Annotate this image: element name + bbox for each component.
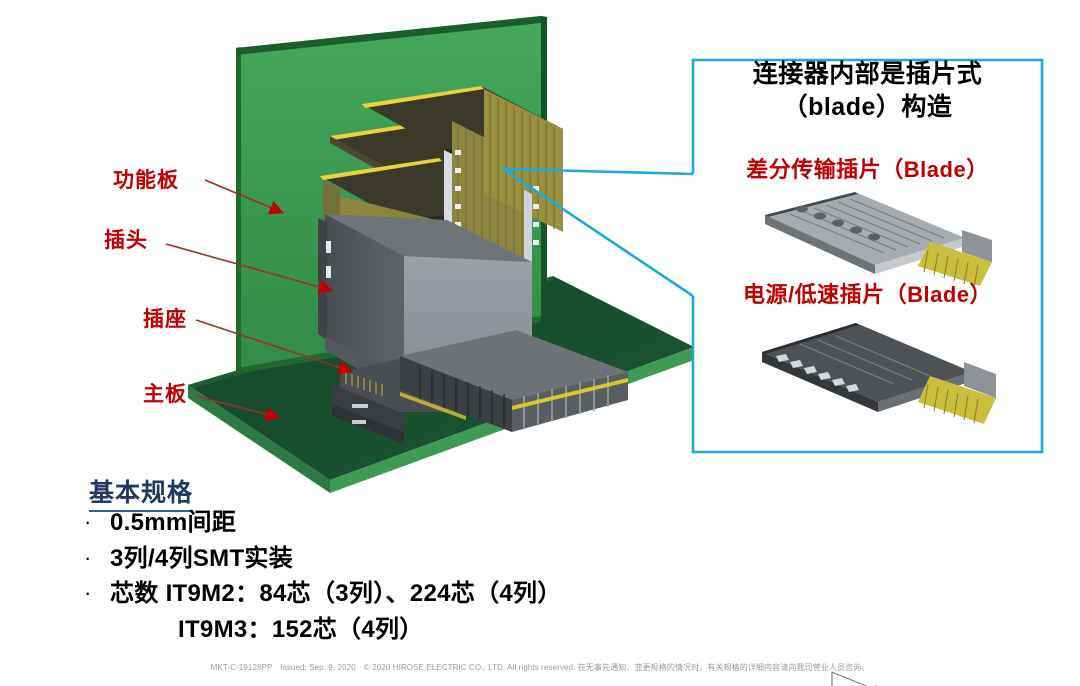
spec-section-title: 基本规格 (89, 473, 193, 512)
spec-item: · 芯数 IT9M2：84芯（3列）、224芯（4列） (84, 579, 724, 610)
zoom-panel-title-line1: 连接器内部是插片式 (700, 58, 1035, 91)
spec-item: · 0.5mm间距 (84, 508, 724, 539)
bullet-glyph: · (84, 544, 110, 572)
slide-canvas: 功能板 插头 插座 主板 连接器内部是插片式 （blade）构造 差分传输插片（… (0, 0, 1080, 686)
spec-list: · 0.5mm间距 · 3列/4列SMT实装 · 芯数 IT9M2：84芯（3列… (84, 508, 724, 646)
callout-label-functional-board: 功能板 (113, 164, 179, 194)
bullet-glyph: · (84, 579, 110, 607)
blade-heading-power-lowspeed: 电源/低速插片（Blade） (700, 277, 1035, 309)
blade-heading-differential: 差分传输插片（Blade） (700, 152, 1035, 184)
bullet-glyph: · (84, 508, 110, 536)
callout-label-motherboard: 主板 (143, 378, 187, 408)
blade-differential-3d (765, 192, 992, 287)
blade-power-3d (762, 323, 996, 686)
zoom-panel-title-line2: （blade）构造 (700, 91, 1035, 124)
callout-label-receptacle: 插座 (143, 303, 187, 333)
zoom-panel-title: 连接器内部是插片式 （blade）构造 (700, 58, 1035, 123)
spec-item: · 3列/4列SMT实装 (84, 544, 724, 575)
spec-item-text: 3列/4列SMT实装 (110, 544, 293, 575)
spec-item-text: 0.5mm间距 (110, 508, 236, 539)
spec-item-text: 芯数 IT9M2：84芯（3列）、224芯（4列） (110, 579, 562, 610)
footer-legal-text: MKT-C-19128PP Issued: Sep. 9, 2020 © 202… (0, 662, 1080, 673)
spec-sub-item: IT9M3：152芯（4列） (178, 615, 724, 646)
callout-label-plug: 插头 (104, 224, 148, 254)
